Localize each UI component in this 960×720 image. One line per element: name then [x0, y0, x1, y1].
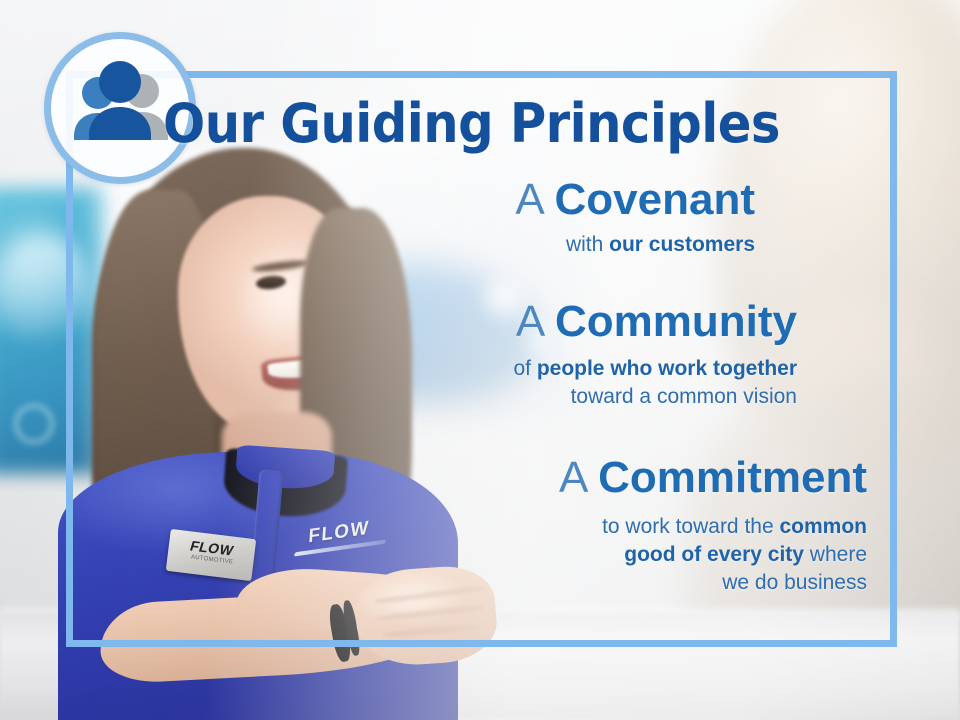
principle-community: A Community of people who work togethert…: [513, 297, 797, 411]
principle-body-line: of people who work together: [513, 355, 797, 383]
principle-commitment: A Commitment to work toward the commongo…: [559, 453, 867, 597]
principle-article: A: [559, 453, 598, 502]
principle-keyword: Community: [555, 297, 797, 346]
principle-body-line: toward a common vision: [513, 383, 797, 411]
principle-article: A: [515, 175, 554, 224]
principle-body-line: to work toward the common: [559, 513, 867, 541]
principle-body-line: good of every city where: [559, 541, 867, 569]
principle-keyword: Commitment: [598, 453, 867, 502]
principle-body-line: we do business: [559, 569, 867, 597]
principle-body: to work toward the commongood of every c…: [559, 513, 867, 597]
principle-heading: A Covenant: [515, 175, 755, 225]
principle-body: with our customers: [515, 231, 755, 259]
text-content: Our Guiding Principles A Covenant with o…: [66, 71, 897, 647]
principle-covenant: A Covenant with our customers: [515, 175, 755, 259]
principle-keyword: Covenant: [555, 175, 755, 224]
page-title: Our Guiding Principles: [98, 95, 844, 153]
principle-article: A: [516, 297, 555, 346]
principle-body-line: with our customers: [515, 231, 755, 259]
guiding-principles-graphic: FLOW FLOW AUTOMOTIVE Our: [0, 0, 960, 720]
principle-heading: A Community: [513, 297, 797, 347]
principle-heading: A Commitment: [559, 453, 867, 503]
principle-body: of people who work togethertoward a comm…: [513, 355, 797, 411]
